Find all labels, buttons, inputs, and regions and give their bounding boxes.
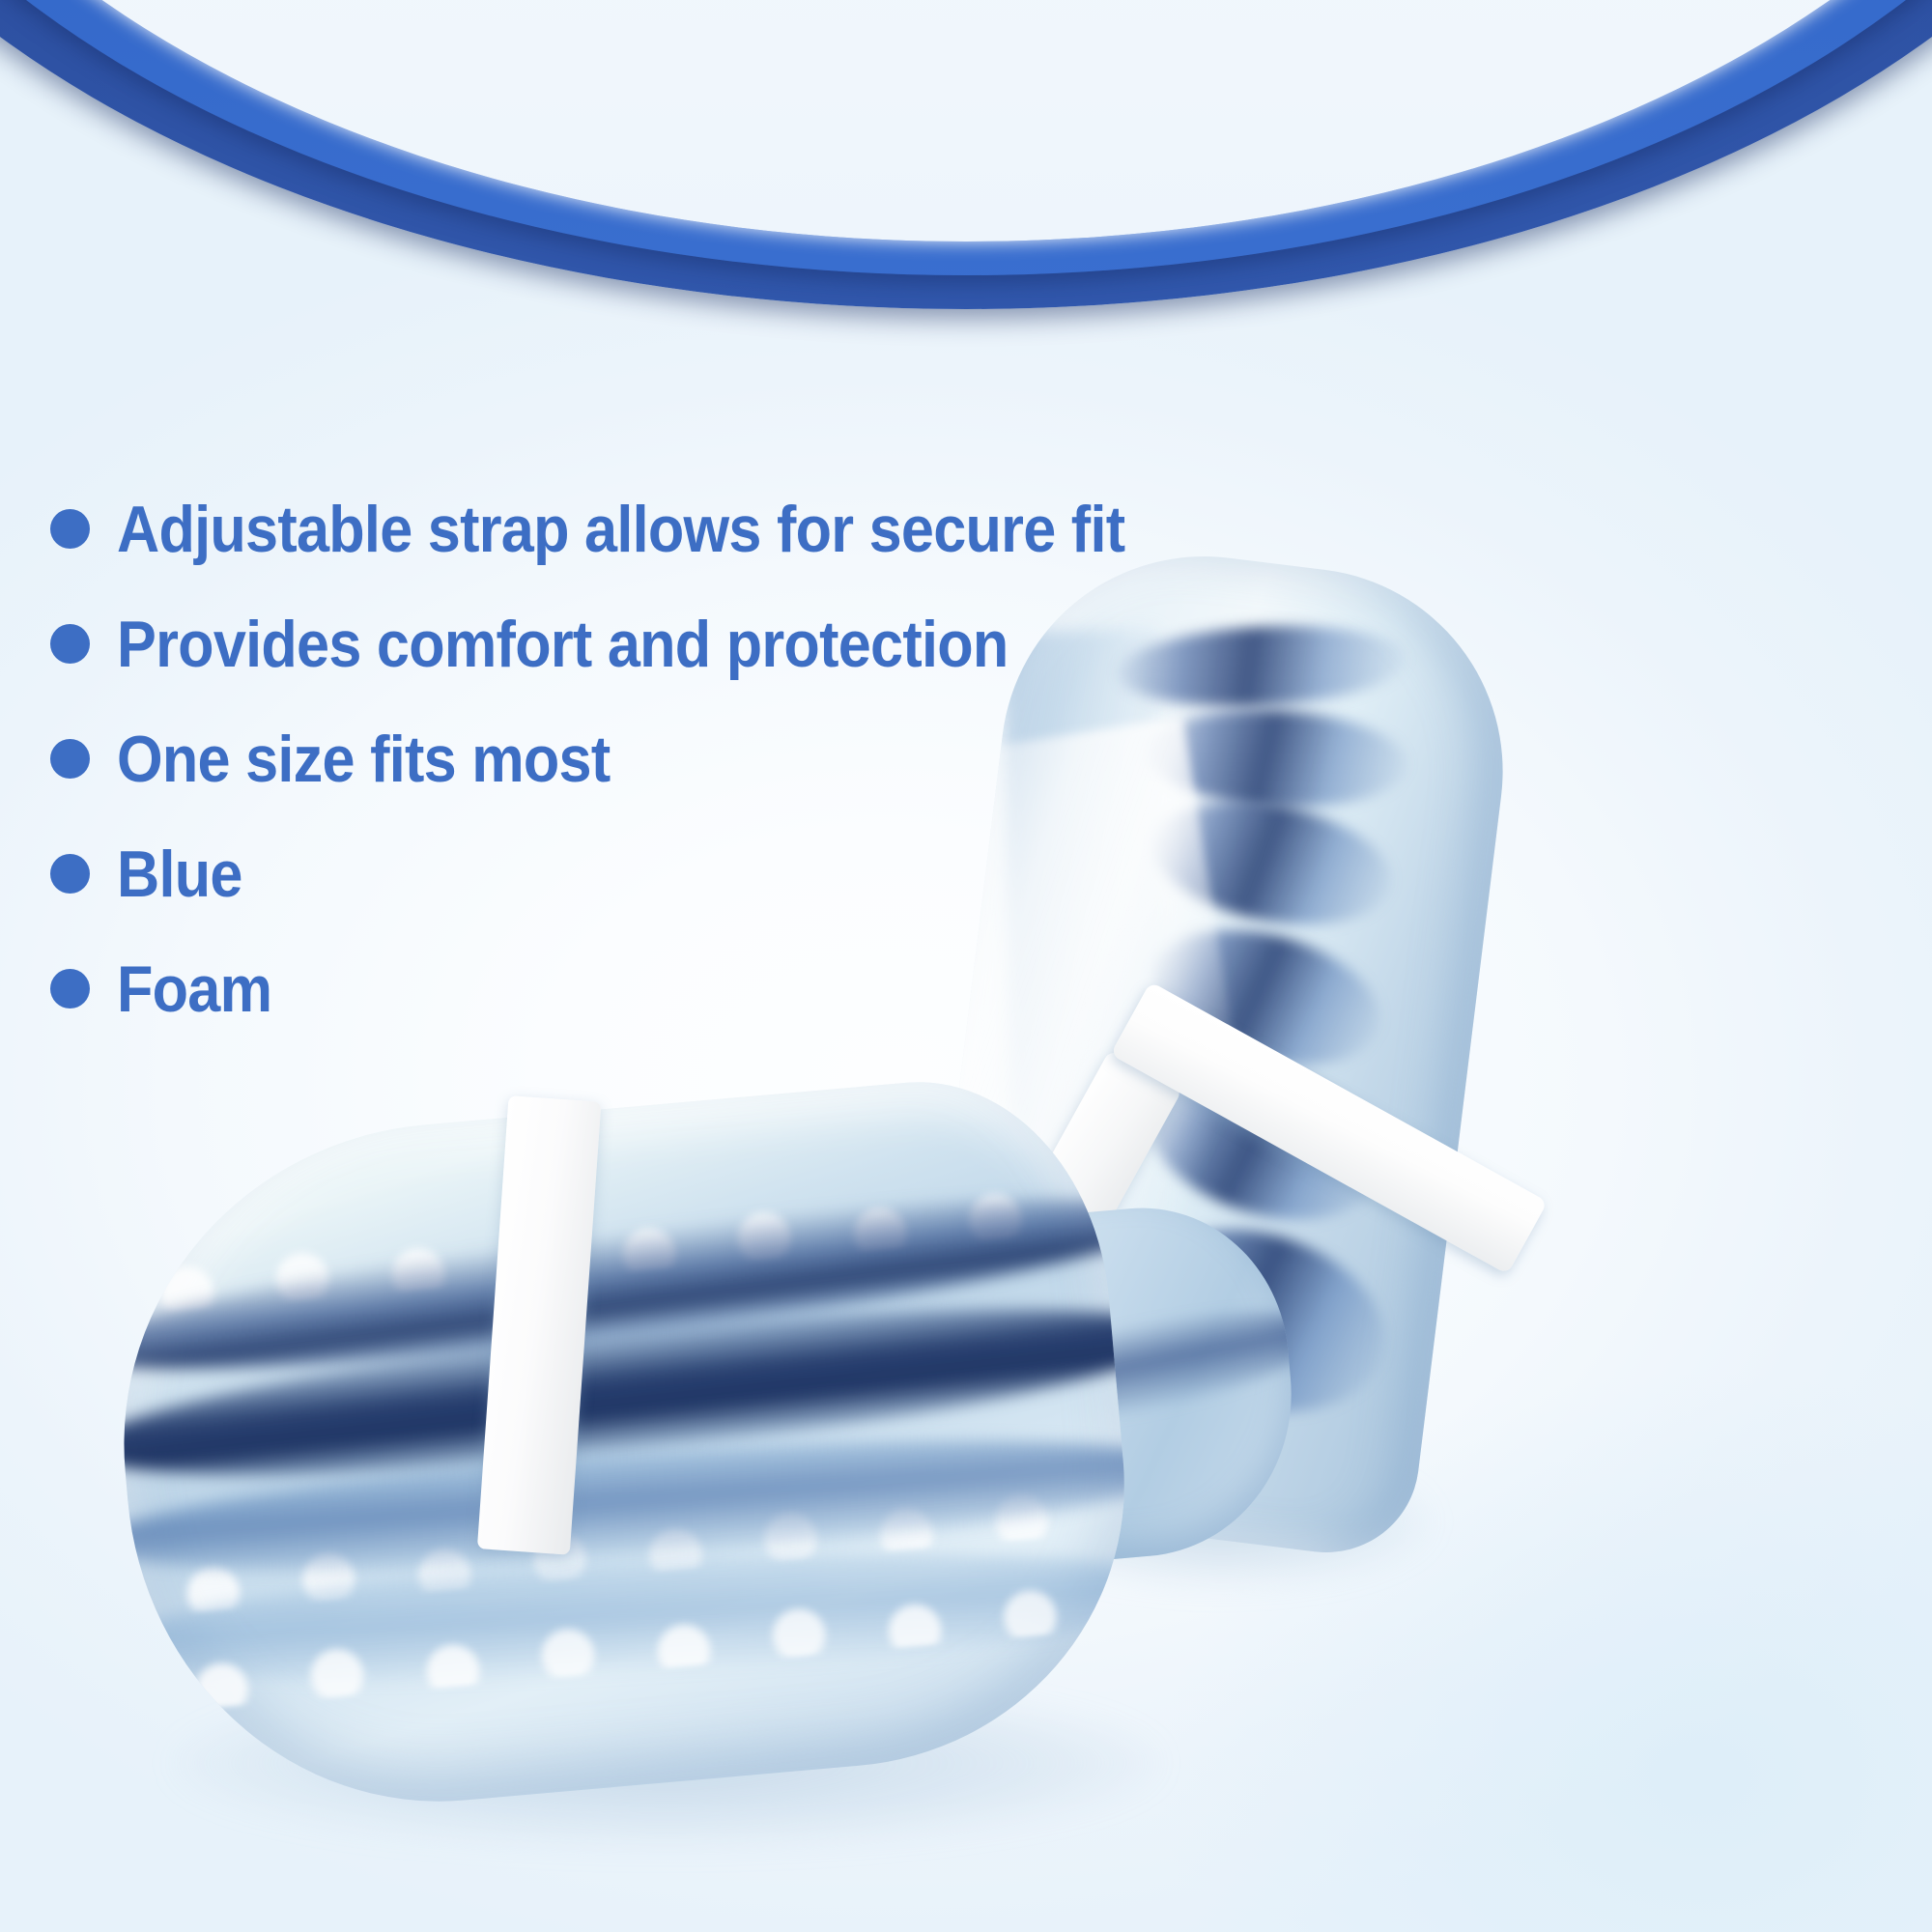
bullet-circle-icon [50,969,90,1009]
bullet-circle-icon [50,739,90,779]
bullet-circle-icon [50,624,90,664]
feature-item-2: Provides comfort and protection [50,586,1422,701]
feature-label: Foam [117,956,271,1022]
feature-item-1: Adjustable strap allows for secure fit [50,471,1422,586]
feature-item-5: Foam [50,931,1422,1046]
feature-list: Adjustable strap allows for secure fit P… [50,471,1422,1046]
lying-boot-foam-body [98,1066,1148,1827]
product-feature-image: Adjustable strap allows for secure fit P… [0,0,1932,1932]
lying-foam-boot [98,1052,1322,1847]
feature-label: Provides comfort and protection [117,611,1009,677]
feature-item-3: One size fits most [50,701,1422,816]
feature-item-4: Blue [50,816,1422,931]
decorative-curved-header [0,0,1932,415]
bullet-circle-icon [50,854,90,894]
bullet-circle-icon [50,509,90,549]
feature-label: Adjustable strap allows for secure fit [117,497,1124,562]
feature-label: Blue [117,841,242,907]
feature-label: One size fits most [117,726,611,792]
